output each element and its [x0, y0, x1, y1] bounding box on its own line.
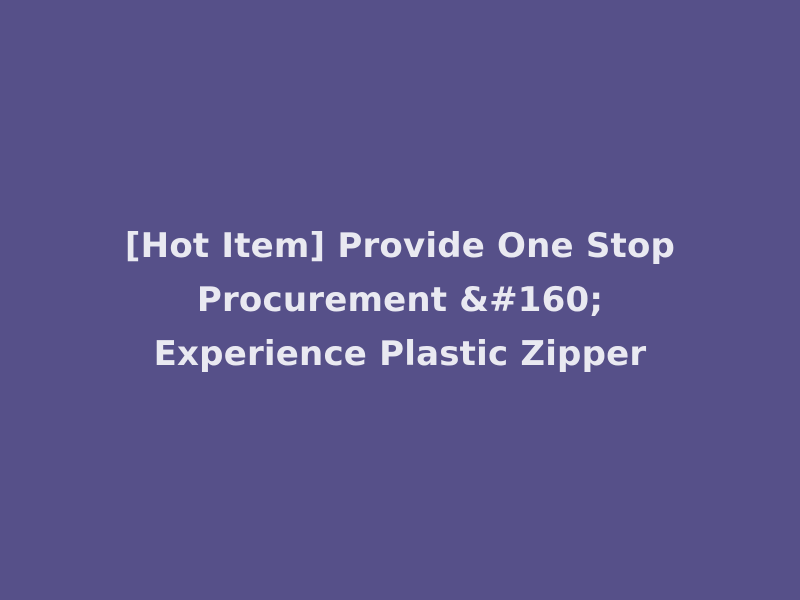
product-title-block: [Hot Item] Provide One Stop Procurement …	[90, 219, 710, 381]
image-placeholder-card: [Hot Item] Provide One Stop Procurement …	[0, 0, 800, 600]
product-title-text: [Hot Item] Provide One Stop Procurement …	[90, 219, 710, 381]
